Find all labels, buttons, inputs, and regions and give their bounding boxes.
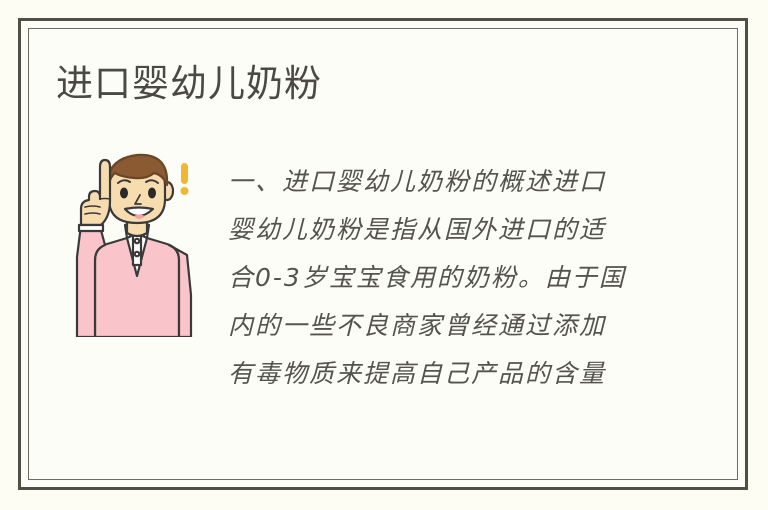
shirt-button-top — [135, 239, 139, 243]
article-line: 一、进口婴幼儿奶粉的概述进口 — [228, 158, 668, 206]
eye-left — [120, 188, 128, 199]
finger-base-line — [100, 199, 110, 200]
exclamation-icon — [181, 163, 189, 195]
eye-right — [148, 188, 156, 199]
shirt-button-bottom — [135, 252, 139, 256]
page-title: 进口婴幼儿奶粉 — [56, 62, 322, 106]
article-line: 合0-3岁宝宝食用的奶粉。由于国 — [228, 254, 668, 302]
man-pointing-up-illustration — [55, 145, 215, 337]
article-line: 婴幼儿奶粉是指从国外进口的适 — [228, 206, 668, 254]
article-line: 有毒物质来提高自己产品的含量 — [228, 350, 668, 398]
wrist-cuff — [79, 225, 103, 231]
article-line: 内的一些不良商家曾经通过添加 — [228, 302, 668, 350]
hand-pointing — [81, 160, 110, 225]
article-body: 一、进口婴幼儿奶粉的概述进口 婴幼儿奶粉是指从国外进口的适 合0-3岁宝宝食用的… — [228, 158, 668, 398]
page-root: 进口婴幼儿奶粉 — [0, 0, 768, 510]
illustration-svg — [55, 145, 215, 337]
